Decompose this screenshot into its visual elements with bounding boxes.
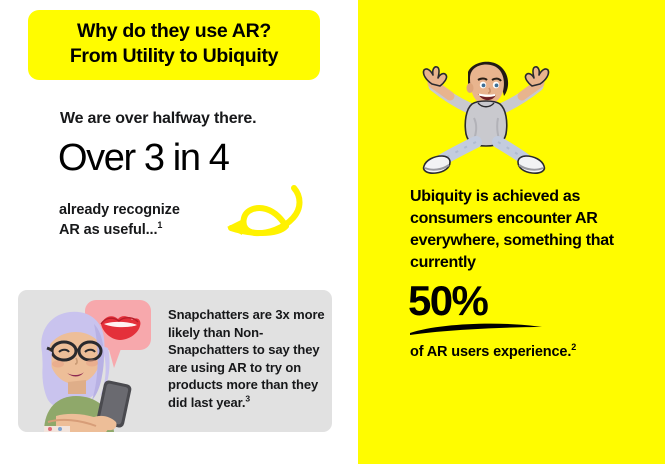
title-badge: Why do they use AR? From Utility to Ubiq…: [28, 10, 320, 80]
right-panel-body-text: Ubiquity is achieved as consumers encoun…: [410, 186, 638, 274]
big-stat-over-3-in-4: Over 3 in 4: [58, 136, 228, 180]
right-footnote-text: of AR users experience.: [410, 344, 571, 360]
hand-drawn-underline-icon: [406, 318, 546, 338]
stat-caption: already recognize AR as useful...1: [59, 200, 180, 240]
footnote-marker-1: 1: [157, 220, 162, 230]
intro-line: We are over halfway there.: [60, 110, 256, 128]
bitmoji-girl-with-phone-icon: [22, 296, 172, 432]
stat-caption-line-1: already recognize: [59, 202, 180, 218]
stat-caption-line-2: AR as useful...: [59, 222, 157, 238]
footnote-marker-2: 2: [571, 342, 576, 352]
title-line-1: Why do they use AR?: [42, 19, 306, 44]
footnote-marker-3: 3: [245, 394, 250, 404]
gray-stat-card: Snapchatters are 3x more likely than Non…: [18, 290, 332, 432]
right-panel-footnote: of AR users experience.2: [410, 344, 576, 360]
infographic-slide: Why do they use AR? From Utility to Ubiq…: [0, 0, 665, 464]
bitmoji-jumping-man-icon: [406, 56, 566, 181]
curly-arrow-icon: [222, 180, 322, 252]
right-yellow-panel: Ubiquity is achieved as consumers encoun…: [358, 0, 665, 464]
title-line-2: From Utility to Ubiquity: [42, 44, 306, 69]
gray-card-text: Snapchatters are 3x more likely than Non…: [168, 306, 328, 412]
left-column: Why do they use AR? From Utility to Ubiq…: [0, 0, 358, 464]
